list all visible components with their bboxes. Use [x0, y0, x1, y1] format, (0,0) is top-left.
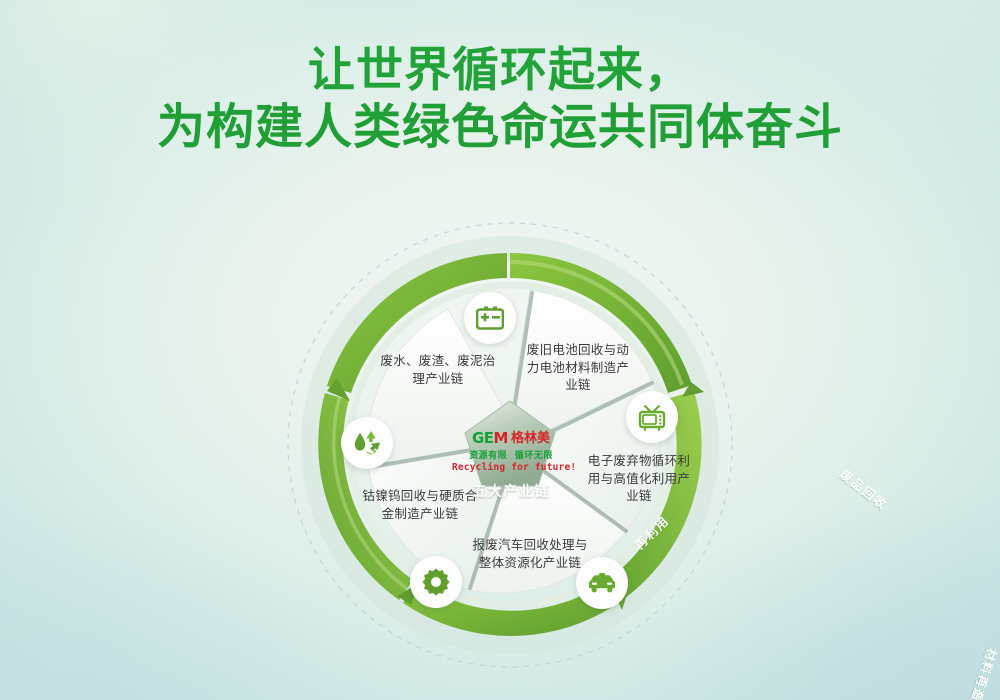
ring-label-recycling: 废品回收 [837, 466, 892, 514]
car-icon [576, 557, 628, 609]
gem-logo-wordmark-row: GEM 格林美 [452, 430, 570, 447]
page-title: 让世界循环起来， 为构建人类绿色命运共同体奋斗 [0, 42, 1000, 156]
gem-slogan: 资源有限 循环无限 [452, 448, 570, 461]
water-recycle-icon [341, 417, 393, 469]
headline-line-1: 让世界循环起来， [0, 42, 1000, 99]
gem-chinese-name: 格林美 [511, 432, 550, 446]
battery-icon [464, 292, 516, 344]
segment-label-scrap-car: 报废汽车回收处理与整体资源化产业链 [472, 536, 588, 571]
segment-label-waste-water: 废水、废渣、废泥治理产业链 [378, 352, 498, 387]
gem-tagline-en: Recycling for future! [452, 462, 570, 473]
water-recycle-icon-glyph [352, 429, 382, 457]
poster-canvas: 让世界循环起来， 为构建人类绿色命运共同体奋斗 [0, 0, 1000, 700]
television-icon-glyph [638, 404, 666, 431]
headline-line-2: 为构建人类绿色命运共同体奋斗 [0, 99, 1000, 156]
car-icon-glyph [587, 573, 617, 593]
segment-label-electronic-waste: 电子废弃物循环利用与高值化利用产业链 [583, 452, 695, 505]
gem-logo: GEM 格林美 资源有限 循环无限 Recycling for future! [452, 430, 570, 473]
gear-icon [410, 556, 462, 608]
television-icon [626, 391, 678, 443]
ring-label-material-remake: 材料再造 [967, 646, 1000, 700]
center-caption: 五大产业链 [452, 481, 570, 501]
battery-icon-glyph [476, 306, 504, 330]
gear-icon-glyph [422, 568, 450, 596]
gem-slogan-right: 循环无限 [515, 451, 553, 461]
gem-latin-mark: GEM [472, 431, 508, 446]
gem-slogan-left: 资源有限 [469, 451, 507, 461]
segment-label-battery: 废旧电池回收与动力电池材料制造产业链 [522, 341, 634, 394]
